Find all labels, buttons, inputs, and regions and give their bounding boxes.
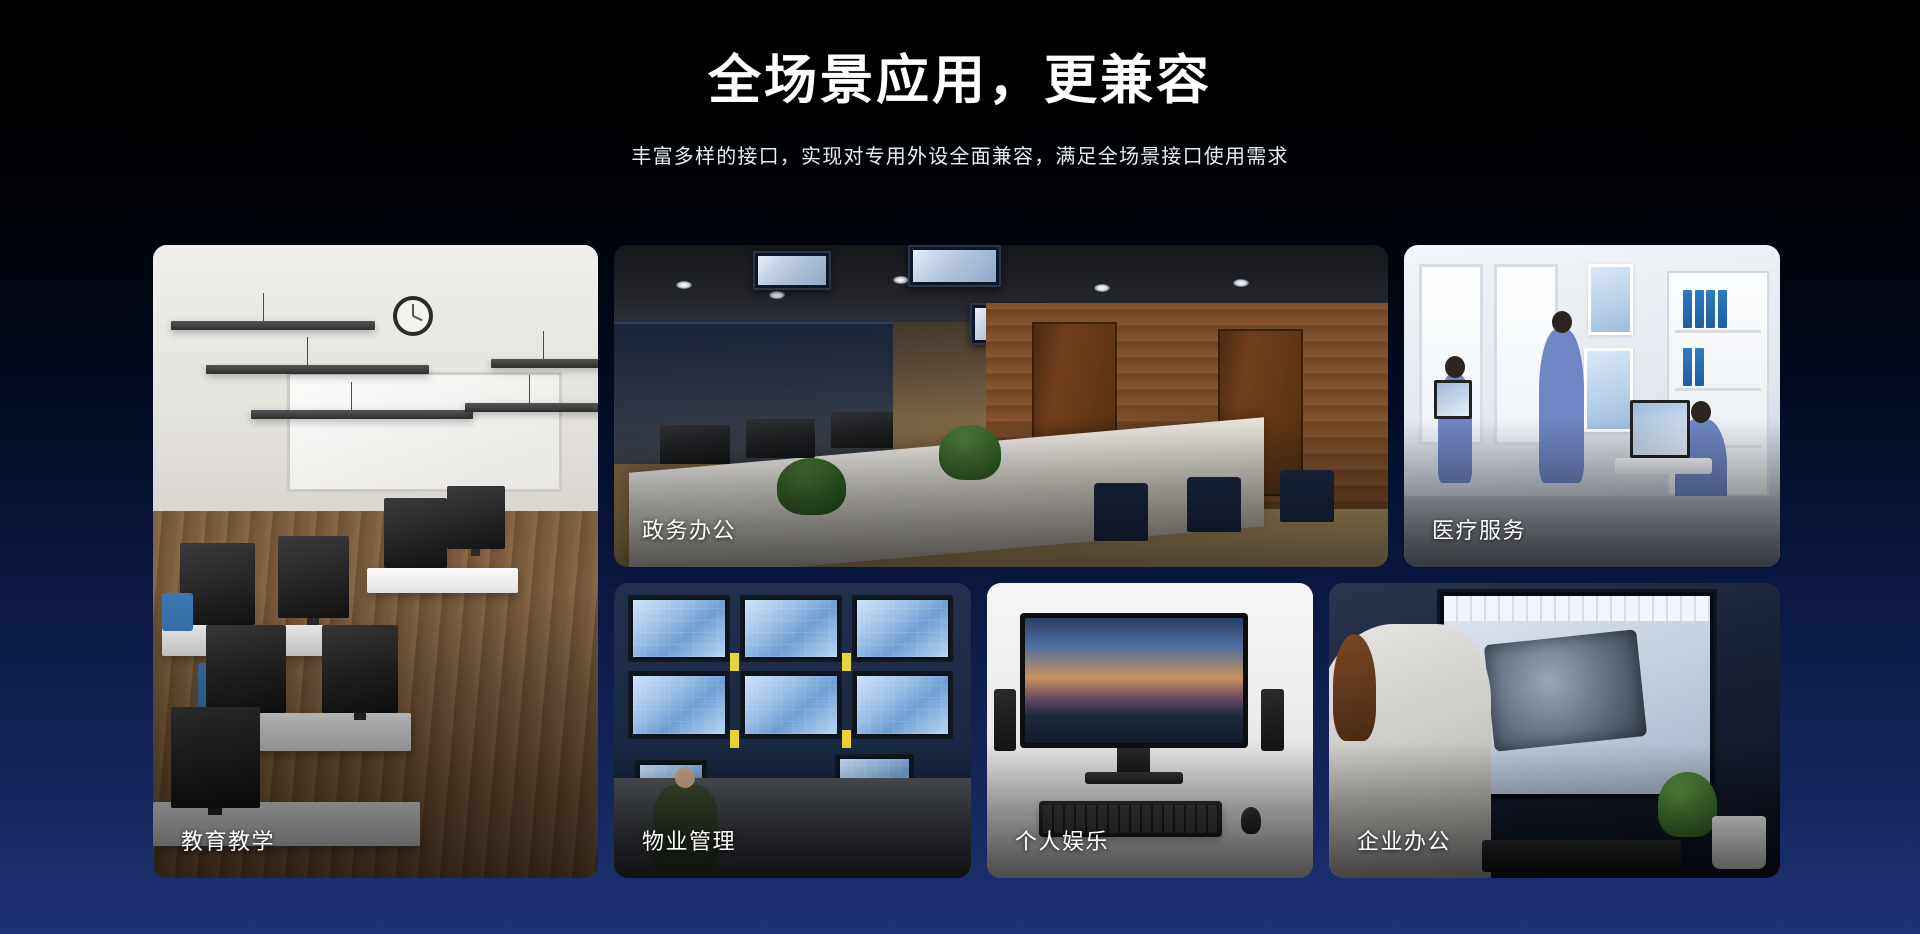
scene-caption-property: 物业管理 bbox=[642, 824, 736, 856]
scene-card-property[interactable]: 物业管理 bbox=[614, 583, 971, 878]
scene-caption-medical: 医疗服务 bbox=[1432, 513, 1526, 545]
scene-caption-education: 教育教学 bbox=[181, 824, 275, 856]
caption-scrim bbox=[614, 742, 971, 878]
page-subtitle: 丰富多样的接口，实现对专用外设全面兼容，满足全场景接口使用需求 bbox=[0, 140, 1920, 169]
scene-card-education[interactable]: 教育教学 bbox=[153, 245, 598, 878]
hero-header: 全场景应用，更兼容 丰富多样的接口，实现对专用外设全面兼容，满足全场景接口使用需… bbox=[0, 0, 1920, 169]
scene-caption-government: 政务办公 bbox=[642, 513, 736, 545]
scene-grid: 教育教学 bbox=[153, 245, 1780, 878]
caption-scrim bbox=[987, 742, 1313, 878]
scene-card-enterprise[interactable]: 企业办公 bbox=[1329, 583, 1780, 878]
scene-card-entertainment[interactable]: 个人娱乐 bbox=[987, 583, 1313, 878]
scene-card-medical[interactable]: 医疗服务 bbox=[1404, 245, 1780, 567]
scene-card-government[interactable]: 政务办公 bbox=[614, 245, 1388, 567]
scene-caption-entertainment: 个人娱乐 bbox=[1015, 824, 1109, 856]
caption-scrim bbox=[1329, 742, 1780, 878]
page-title: 全场景应用，更兼容 bbox=[0, 48, 1920, 114]
wall-clock-icon bbox=[393, 296, 433, 336]
monitor-icon bbox=[1020, 613, 1248, 749]
scene-caption-enterprise: 企业办公 bbox=[1357, 824, 1451, 856]
